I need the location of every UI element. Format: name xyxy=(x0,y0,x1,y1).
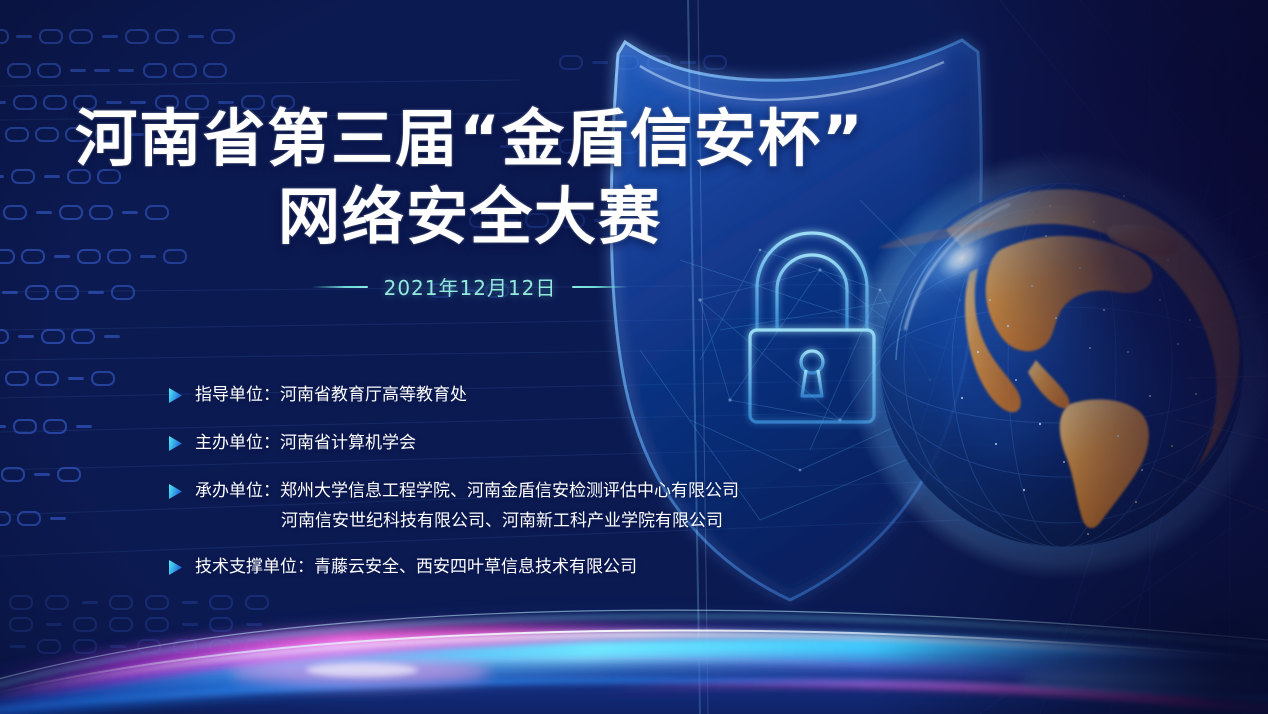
date-rule-left-icon xyxy=(312,286,368,288)
list-item-text: 主办单位：河南省计算机学会 xyxy=(195,431,416,455)
org-value: 青藤云安全、西安四叶草信息技术有限公司 xyxy=(314,557,637,577)
title-block: 河南省第三届“金盾信安杯” 网络安全大赛 xyxy=(0,100,940,256)
list-item: 指导单位：河南省教育厅高等教育处 xyxy=(168,383,868,407)
date-rule-right-icon xyxy=(572,286,628,288)
org-label: 指导单位： xyxy=(195,385,280,405)
org-value-line2: 河南信安世纪科技有限公司、河南新工科产业学院有限公司 xyxy=(281,509,739,533)
list-item-text: 承办单位：郑州大学信息工程学院、河南金盾信安检测评估中心有限公司 河南信安世纪科… xyxy=(195,479,739,533)
event-date-row: 2021年12月12日 xyxy=(0,272,940,301)
poster-content: 河南省第三届“金盾信安杯” 网络安全大赛 2021年12月12日 指导单位：河南… xyxy=(0,0,1268,714)
triangle-bullet-icon xyxy=(168,559,183,576)
list-item: 承办单位：郑州大学信息工程学院、河南金盾信安检测评估中心有限公司 河南信安世纪科… xyxy=(168,479,868,533)
list-item: 技术支撑单位：青藤云安全、西安四叶草信息技术有限公司 xyxy=(168,555,868,579)
org-label: 主办单位： xyxy=(195,433,280,453)
org-label: 承办单位： xyxy=(195,481,280,501)
list-item-text: 技术支撑单位：青藤云安全、西安四叶草信息技术有限公司 xyxy=(195,555,637,579)
organizations-list: 指导单位：河南省教育厅高等教育处 主办单位：河南省计算机学会 xyxy=(168,383,868,603)
triangle-bullet-icon xyxy=(168,387,183,404)
poster-canvas: 河南省第三届“金盾信安杯” 网络安全大赛 2021年12月12日 指导单位：河南… xyxy=(0,0,1268,714)
page-title-line-2: 网络安全大赛 xyxy=(0,178,940,256)
org-value: 河南省教育厅高等教育处 xyxy=(280,385,467,405)
org-value: 河南省计算机学会 xyxy=(280,433,416,453)
page-title-line-1: 河南省第三届“金盾信安杯” xyxy=(0,100,940,178)
event-date: 2021年12月12日 xyxy=(384,272,557,301)
list-item-text: 指导单位：河南省教育厅高等教育处 xyxy=(195,383,467,407)
list-item: 主办单位：河南省计算机学会 xyxy=(168,431,868,455)
triangle-bullet-icon xyxy=(168,435,183,452)
triangle-bullet-icon xyxy=(168,483,183,500)
org-label: 技术支撑单位： xyxy=(195,557,314,577)
org-value: 郑州大学信息工程学院、河南金盾信安检测评估中心有限公司 xyxy=(280,481,739,501)
